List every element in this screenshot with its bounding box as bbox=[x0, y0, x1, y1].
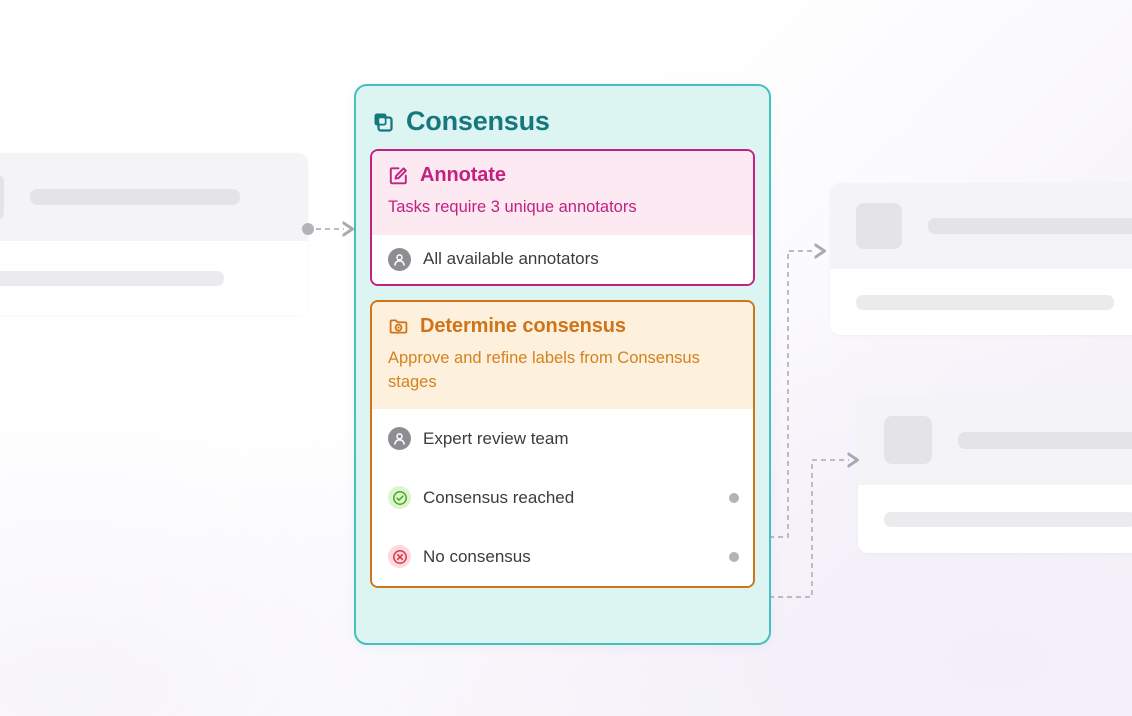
stage-determine-header: Determine consensus Approve and refine l… bbox=[372, 302, 753, 410]
avatar-person-icon bbox=[388, 248, 411, 271]
layers-copy-icon bbox=[372, 111, 394, 133]
page-title: Consensus bbox=[406, 108, 550, 135]
consensus-card-header: Consensus bbox=[356, 86, 769, 135]
x-circle-icon bbox=[388, 545, 411, 568]
edit-square-pencil-icon bbox=[388, 165, 409, 186]
placeholder-thumbnail bbox=[0, 174, 4, 220]
stage-annotate[interactable]: Annotate Tasks require 3 unique annotato… bbox=[370, 149, 755, 286]
placeholder-card-body bbox=[830, 269, 1132, 335]
placeholder-card-header bbox=[830, 183, 1132, 269]
placeholder-thumbnail bbox=[884, 416, 932, 464]
list-item[interactable]: No consensus bbox=[372, 527, 753, 586]
placeholder-title-bar bbox=[30, 189, 240, 205]
list-item[interactable]: Expert review team bbox=[372, 409, 753, 468]
placeholder-text-bar bbox=[884, 512, 1132, 527]
placeholder-thumbnail bbox=[856, 203, 902, 249]
list-item-label: All available annotators bbox=[423, 249, 599, 269]
stage-determine-description: Approve and refine labels from Consensus… bbox=[388, 347, 737, 395]
list-item[interactable]: Consensus reached bbox=[372, 468, 753, 527]
stage-determine-title: Determine consensus bbox=[420, 315, 626, 338]
placeholder-card-left bbox=[0, 153, 308, 315]
placeholder-card-body bbox=[858, 485, 1132, 553]
stage-determine-rows: Expert review team Consensus reached bbox=[372, 409, 753, 586]
check-circle-icon bbox=[388, 486, 411, 509]
avatar-person-icon bbox=[388, 427, 411, 450]
placeholder-card-right-bottom bbox=[858, 395, 1132, 553]
stage-annotate-title: Annotate bbox=[420, 164, 506, 187]
list-item-label: No consensus bbox=[423, 547, 531, 567]
stage-determine-consensus[interactable]: Determine consensus Approve and refine l… bbox=[370, 300, 755, 589]
placeholder-card-header bbox=[0, 153, 308, 241]
placeholder-card-body bbox=[0, 241, 308, 315]
placeholder-text-bar bbox=[856, 295, 1114, 310]
placeholder-title-bar bbox=[928, 218, 1132, 234]
placeholder-title-bar bbox=[958, 432, 1132, 449]
placeholder-card-header bbox=[858, 395, 1132, 485]
consensus-reached-endpoint[interactable] bbox=[729, 493, 739, 503]
consensus-stage-card[interactable]: Consensus Annotate Tasks require 3 uniqu… bbox=[354, 84, 771, 645]
placeholder-card-right-top bbox=[830, 183, 1132, 335]
review-folder-icon bbox=[388, 316, 409, 337]
placeholder-text-bar bbox=[0, 271, 224, 286]
list-item[interactable]: All available annotators bbox=[372, 235, 753, 284]
stage-annotate-description: Tasks require 3 unique annotators bbox=[388, 196, 737, 220]
stage-annotate-rows: All available annotators bbox=[372, 235, 753, 284]
no-consensus-endpoint[interactable] bbox=[729, 552, 739, 562]
list-item-label: Consensus reached bbox=[423, 488, 574, 508]
stage-annotate-header: Annotate Tasks require 3 unique annotato… bbox=[372, 151, 753, 235]
list-item-label: Expert review team bbox=[423, 429, 569, 449]
